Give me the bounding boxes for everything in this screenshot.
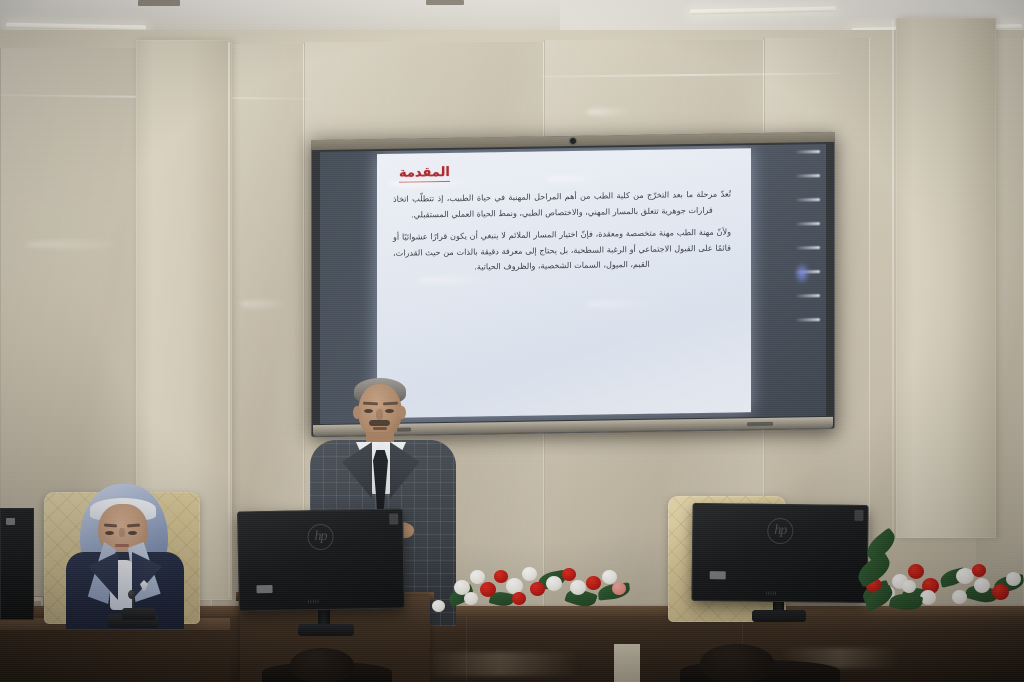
red-flower bbox=[992, 584, 1009, 600]
pink-flower bbox=[612, 582, 626, 595]
bouquet-far-right bbox=[864, 584, 924, 614]
wall-pillar-right bbox=[896, 18, 996, 538]
podium-monitor[interactable]: hp IIIII bbox=[237, 508, 405, 611]
slide-paragraph: ولأنّ مهنة الطب مهنة متخصصة ومعقدة، فإنّ… bbox=[393, 225, 731, 277]
monitor-label-sticker bbox=[256, 585, 272, 593]
white-flower bbox=[570, 580, 586, 595]
audience-member-right-head bbox=[700, 644, 774, 682]
white-flower bbox=[952, 590, 967, 604]
dais-monitor-left[interactable] bbox=[0, 508, 34, 620]
red-flower bbox=[908, 564, 924, 579]
dais-monitor-right[interactable]: hp IIIII bbox=[691, 503, 868, 603]
slide-body: تُعدّ مرحلة ما بعد التخرّج من كلية الطب … bbox=[393, 187, 731, 277]
red-flower bbox=[480, 582, 496, 597]
white-flower bbox=[432, 600, 445, 612]
screen-light-reflection bbox=[796, 294, 820, 297]
monitor-brand-text: IIIII bbox=[308, 599, 320, 605]
ear bbox=[353, 406, 361, 419]
nose bbox=[376, 409, 383, 420]
table-microphone-head bbox=[128, 590, 135, 599]
slide-glare bbox=[585, 300, 655, 308]
nose bbox=[119, 528, 125, 537]
white-flower bbox=[464, 592, 478, 605]
ear bbox=[398, 406, 406, 419]
monitor-base bbox=[298, 624, 354, 636]
monitor-brand-text: IIIII bbox=[765, 591, 777, 597]
white-flower bbox=[974, 578, 990, 593]
slide-glare bbox=[545, 174, 605, 182]
monitor-label-sticker bbox=[6, 518, 15, 525]
screen-blue-glow bbox=[794, 262, 810, 284]
hp-logo-icon: hp bbox=[307, 524, 333, 550]
slide-title: المقدمة bbox=[399, 165, 450, 183]
monitor-label-sticker bbox=[710, 571, 726, 579]
red-flower bbox=[512, 592, 526, 605]
eye bbox=[364, 409, 373, 413]
mouth bbox=[115, 544, 129, 547]
presentation-scene: المقدمة تُعدّ مرحلة ما بعد التخرّج من كل… bbox=[0, 0, 1024, 682]
red-flower bbox=[972, 564, 986, 577]
red-flower bbox=[530, 582, 545, 596]
ceiling-vent bbox=[138, 0, 180, 6]
red-flower bbox=[562, 568, 576, 581]
display-control-button[interactable] bbox=[747, 422, 773, 426]
audience-member-left-head bbox=[290, 648, 354, 682]
mouth bbox=[373, 427, 387, 430]
bouquet-center bbox=[446, 562, 632, 610]
screen-light-reflection bbox=[796, 222, 820, 225]
white-flower bbox=[1006, 572, 1021, 586]
white-flower bbox=[522, 567, 537, 581]
pillar-seam bbox=[892, 20, 894, 538]
slide-paragraph: تُعدّ مرحلة ما بعد التخرّج من كلية الطب … bbox=[393, 187, 731, 223]
hp-logo-icon: hp bbox=[767, 518, 793, 544]
screen-light-reflection bbox=[796, 150, 820, 153]
monitor-power-indicator bbox=[389, 514, 398, 525]
eye bbox=[128, 531, 137, 535]
eye bbox=[385, 409, 394, 413]
screen-light-reflection bbox=[796, 198, 820, 201]
table-microphone-base[interactable] bbox=[122, 608, 156, 620]
red-flower bbox=[586, 576, 601, 590]
eye bbox=[105, 531, 114, 535]
camera-sensor-icon bbox=[570, 138, 576, 144]
monitor-power-indicator bbox=[854, 510, 863, 521]
screen-light-reflection bbox=[796, 174, 820, 177]
monitor-base bbox=[752, 610, 806, 622]
table-light-panel bbox=[614, 644, 640, 682]
pillar-seam bbox=[228, 42, 230, 598]
ceiling-vent bbox=[426, 0, 464, 5]
panel-table-front-left bbox=[0, 630, 230, 682]
screen-light-reflection bbox=[796, 246, 820, 249]
screen-light-reflection bbox=[796, 318, 820, 321]
slide-glare bbox=[417, 276, 495, 284]
foliage bbox=[889, 591, 923, 612]
red-flower bbox=[494, 570, 508, 583]
white-flower bbox=[470, 570, 485, 584]
white-flower bbox=[546, 576, 562, 591]
table-highlight bbox=[420, 652, 580, 676]
moustache bbox=[369, 420, 390, 426]
